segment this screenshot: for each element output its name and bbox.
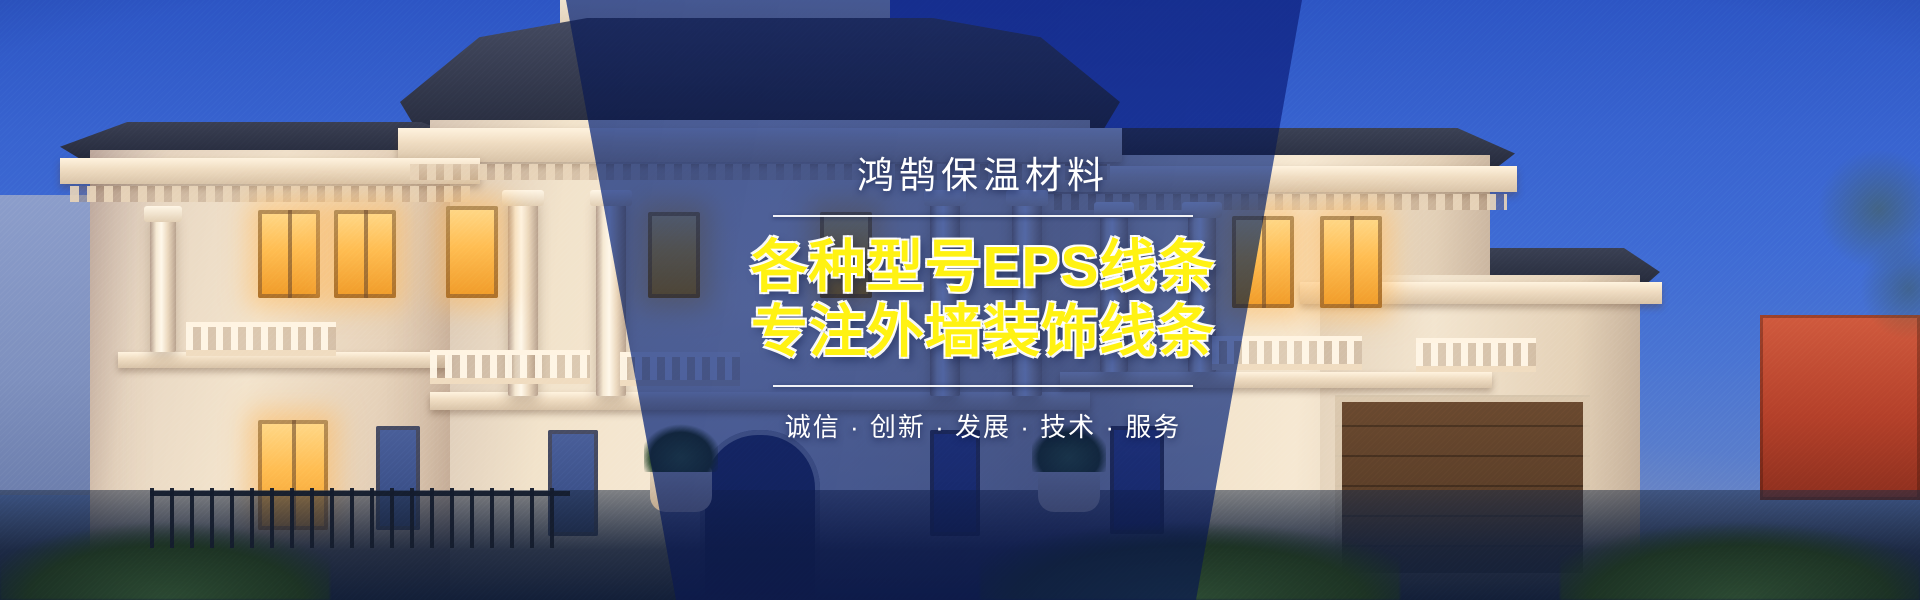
headline-line-1: 各种型号EPS线条 [750,235,1215,300]
promo-banner: 鸿鹄保温材料 各种型号EPS线条 专注外墙装饰线条 诚信 · 创新 · 发展 ·… [0,0,1920,600]
divider-top [773,215,1193,217]
brand-subtitle: 鸿鹄保温材料 [857,156,1109,197]
banner-text-block: 鸿鹄保温材料 各种型号EPS线条 专注外墙装饰线条 诚信 · 创新 · 发展 ·… [0,0,1920,600]
headline-line-2: 专注外墙装饰线条 [751,300,1215,365]
company-tagline: 诚信 · 创新 · 发展 · 技术 · 服务 [785,407,1181,444]
banner-text-inner: 鸿鹄保温材料 各种型号EPS线条 专注外墙装饰线条 诚信 · 创新 · 发展 ·… [768,156,1198,444]
divider-bottom [773,385,1193,387]
